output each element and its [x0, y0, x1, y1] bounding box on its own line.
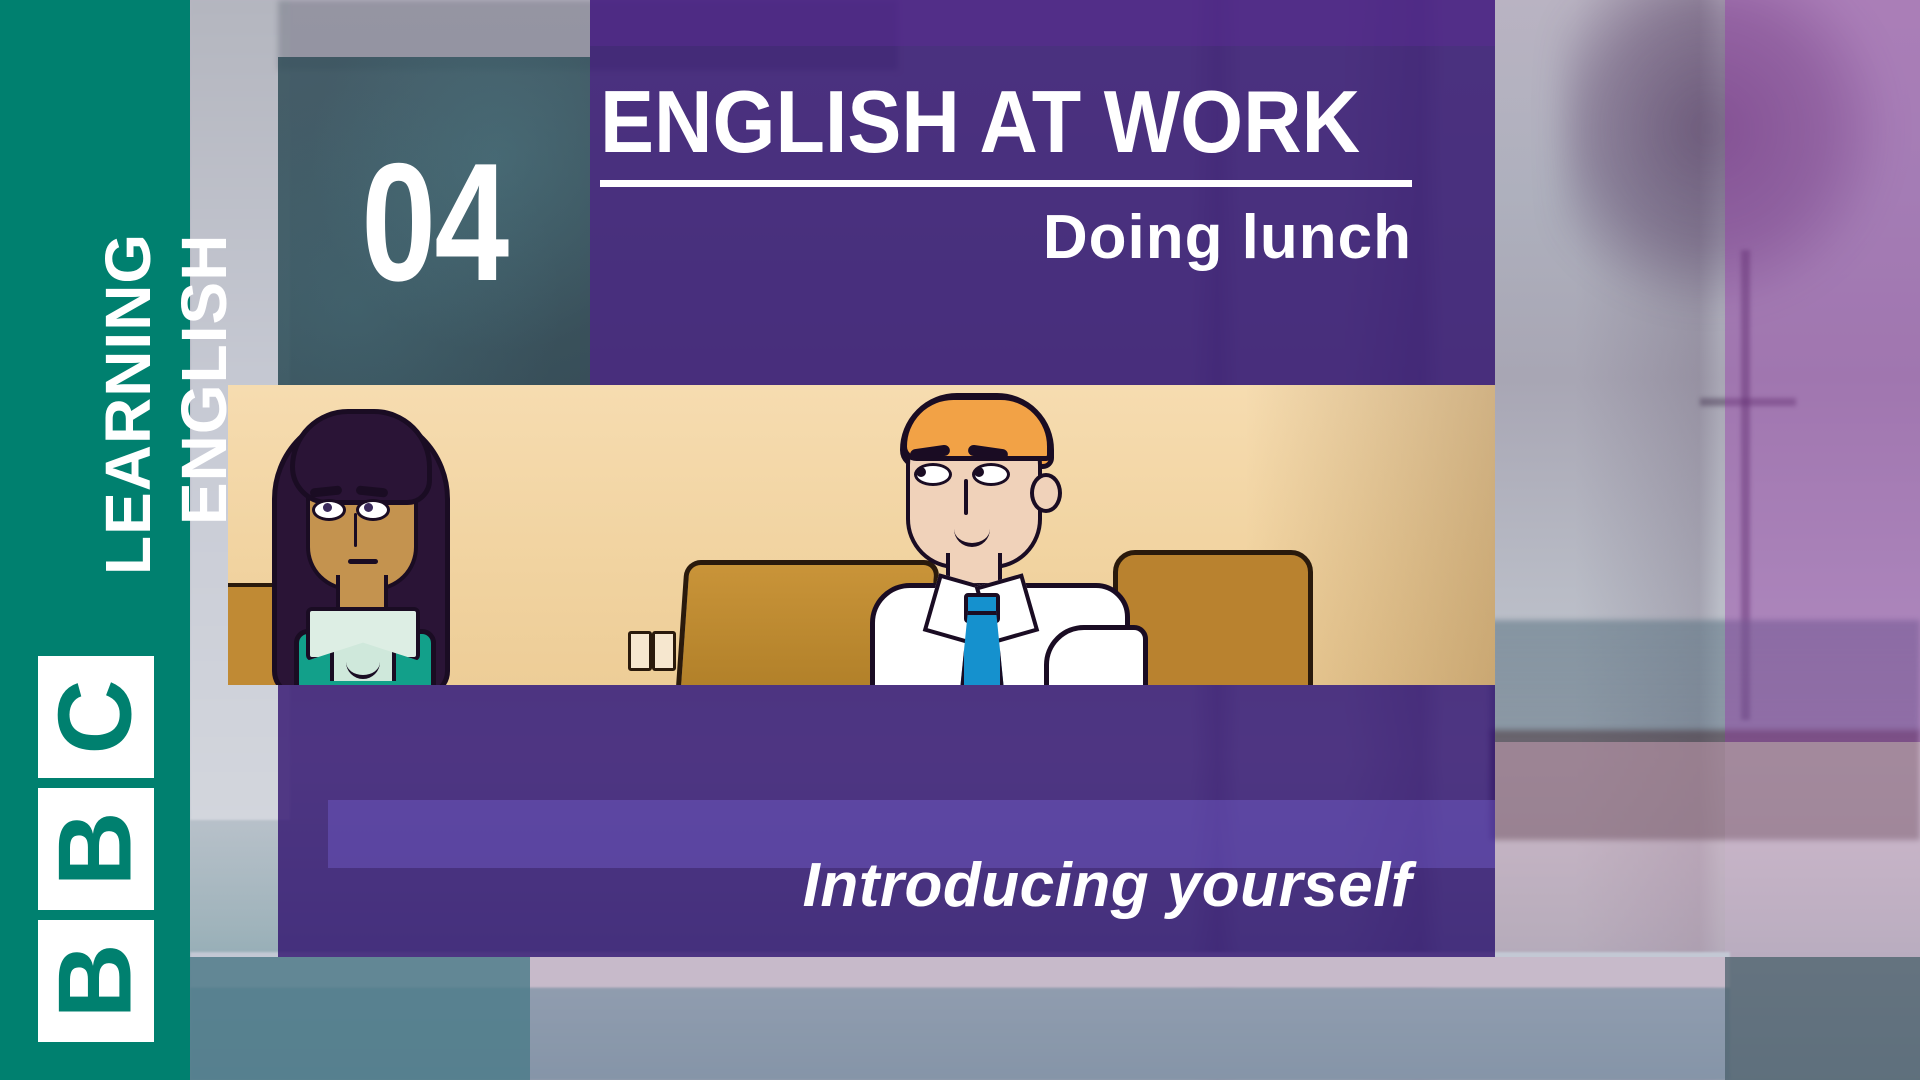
tagline: Introducing yourself	[803, 855, 1412, 917]
episode-title: Doing lunch	[1043, 207, 1412, 269]
brand-rail-line-1: LEARNING	[96, 233, 160, 575]
bbc-logo-letter-c: C	[44, 679, 148, 754]
female-nose	[354, 513, 357, 547]
cup-group	[628, 631, 674, 667]
male-ear	[1030, 473, 1062, 513]
series-title: ENGLISH AT WORK	[600, 78, 1364, 166]
brand-rail: LEARNING ENGLISH C B B	[0, 0, 190, 1080]
male-nose	[964, 479, 968, 515]
male-pupil-right	[974, 467, 984, 477]
episode-still-image	[228, 385, 1495, 685]
title-card: 04	[0, 0, 1920, 1080]
character-male-colleague	[848, 393, 1158, 685]
bbc-logo-letter-b1: B	[44, 943, 148, 1018]
cup-right	[652, 631, 676, 671]
brand-rail-line-2: ENGLISH	[172, 234, 236, 525]
episode-title-block: Doing lunch	[600, 207, 1412, 277]
bbc-logo-letter-b2: B	[44, 811, 148, 886]
headline-panel-top-highlight	[590, 0, 1495, 46]
bbc-logo-block-b2: B	[38, 788, 154, 910]
background-pink-overlay-right	[1725, 742, 1920, 957]
episode-number-box: 04	[278, 57, 590, 387]
background-bottom-right-block	[1725, 957, 1920, 1080]
background-pink-overlay	[1495, 742, 1725, 957]
background-magenta-overlay	[1725, 0, 1920, 742]
female-pupil-left	[323, 503, 332, 512]
background-bottom-pink-strip	[530, 957, 1725, 1080]
character-female-colleague	[250, 403, 460, 685]
brand-rail-text: LEARNING ENGLISH	[0, 95, 190, 675]
bbc-logo-block-c: C	[38, 656, 154, 778]
male-arm	[1044, 625, 1148, 685]
bbc-logo-block-b1: B	[38, 920, 154, 1042]
series-title-block: ENGLISH AT WORK	[600, 78, 1430, 187]
tagline-block: Introducing yourself	[328, 855, 1412, 951]
male-pupil-left	[916, 467, 926, 477]
cup-left	[628, 631, 652, 671]
background-bottom-left-block	[190, 957, 530, 1080]
female-eye-right	[356, 499, 390, 521]
bbc-logo: C B B	[38, 656, 154, 1042]
episode-number: 04	[361, 138, 507, 306]
series-title-underline	[600, 180, 1412, 187]
female-mouth	[348, 559, 378, 564]
female-pupil-right	[364, 503, 373, 512]
